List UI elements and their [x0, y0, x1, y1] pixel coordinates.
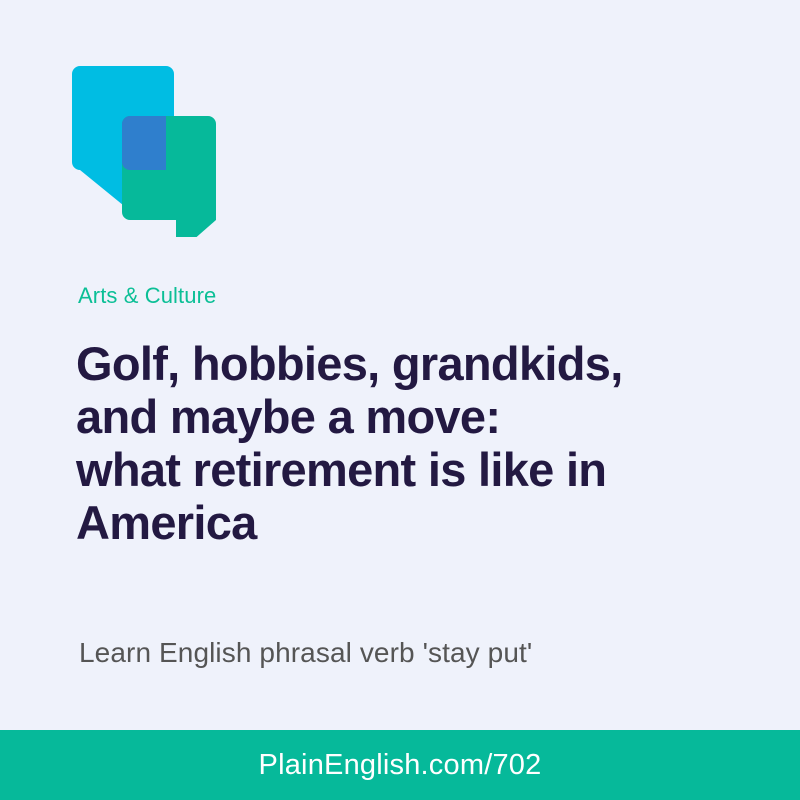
episode-card: Arts & Culture Golf, hobbies, grandkids,…	[0, 0, 800, 800]
footer-bar: PlainEnglish.com/702	[0, 730, 800, 800]
headline-line-3: what retirement is like in	[76, 443, 740, 496]
footer-url-text[interactable]: PlainEnglish.com/702	[259, 751, 542, 780]
speech-bubbles-icon	[64, 62, 216, 237]
headline-line-1: Golf, hobbies, grandkids,	[76, 337, 740, 390]
category-label[interactable]: Arts & Culture	[78, 283, 216, 309]
bubble-overlap-square	[122, 116, 166, 170]
plain-english-logo	[64, 62, 216, 237]
page-title: Golf, hobbies, grandkids, and maybe a mo…	[76, 337, 740, 549]
headline-line-2: and maybe a move:	[76, 390, 740, 443]
subtitle-text: Learn English phrasal verb 'stay put'	[79, 636, 739, 670]
headline-line-4: America	[76, 496, 740, 549]
